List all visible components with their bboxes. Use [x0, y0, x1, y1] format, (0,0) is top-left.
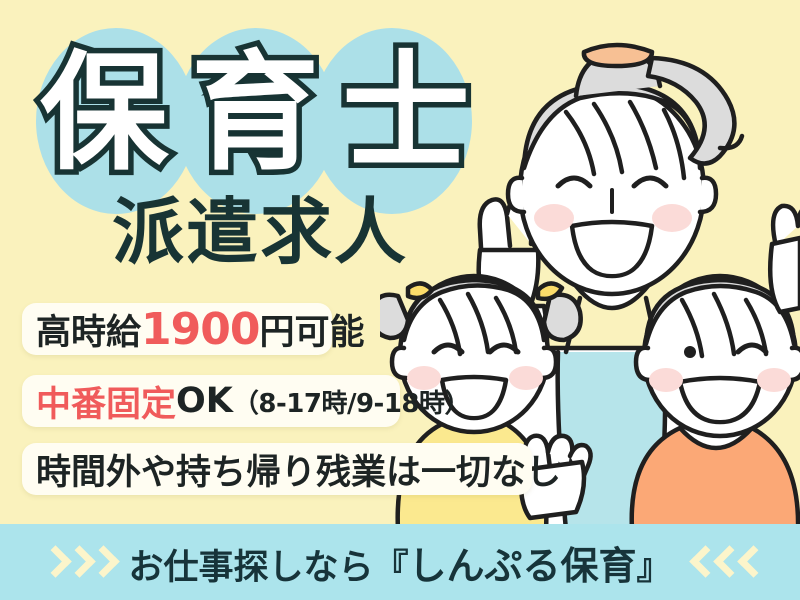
feature-pill-hourly-wage: 高時給 1900 円可能	[22, 303, 332, 355]
chevrons-left-group	[690, 546, 758, 578]
chevron-right-icon	[42, 546, 62, 578]
headline-char-2: 育	[191, 50, 319, 178]
feature-pill-mid-shift: 中番固定 OK （8-17時/9-18時）	[22, 375, 400, 427]
feature-no-overtime-text: 時間外や持ち帰り残業は一切なし	[36, 444, 561, 495]
headline-char-1: 保	[40, 50, 168, 178]
feature-pill-no-overtime: 時間外や持ち帰り残業は一切なし	[22, 443, 532, 495]
feature-shift-ok: OK	[176, 381, 233, 421]
feature-highlight-shift: 中番固定	[36, 376, 176, 427]
chevrons-right-group	[42, 546, 110, 578]
job-ad-banner: 保 育 士 派遣求人 高時給 1900 円可能 中番固定 OK （8-17時/9…	[0, 0, 800, 600]
cta-lead: お仕事探しなら『	[128, 548, 408, 588]
chevron-right-icon	[90, 546, 110, 578]
cta-brand-name: しんぷる保育	[408, 544, 636, 588]
feature-prefix: 高時給	[36, 304, 141, 355]
feature-suffix: 円可能	[259, 304, 364, 355]
chevron-right-icon	[66, 546, 86, 578]
headline-char-3: 士	[342, 50, 470, 178]
chevron-left-icon	[714, 546, 734, 578]
cta-text: お仕事探しなら『しんぷる保育』	[128, 535, 671, 590]
cta-trail: 』	[637, 548, 672, 588]
chevron-left-icon	[738, 546, 758, 578]
chevron-left-icon	[690, 546, 710, 578]
bottom-cta-bar[interactable]: お仕事探しなら『しんぷる保育』	[0, 524, 800, 600]
page-subtitle: 派遣求人	[112, 196, 408, 268]
feature-shift-hours: （8-17時/9-18時）	[233, 383, 470, 420]
feature-highlight-wage: 1900	[141, 304, 259, 355]
page-title: 保 育 士	[40, 34, 470, 194]
